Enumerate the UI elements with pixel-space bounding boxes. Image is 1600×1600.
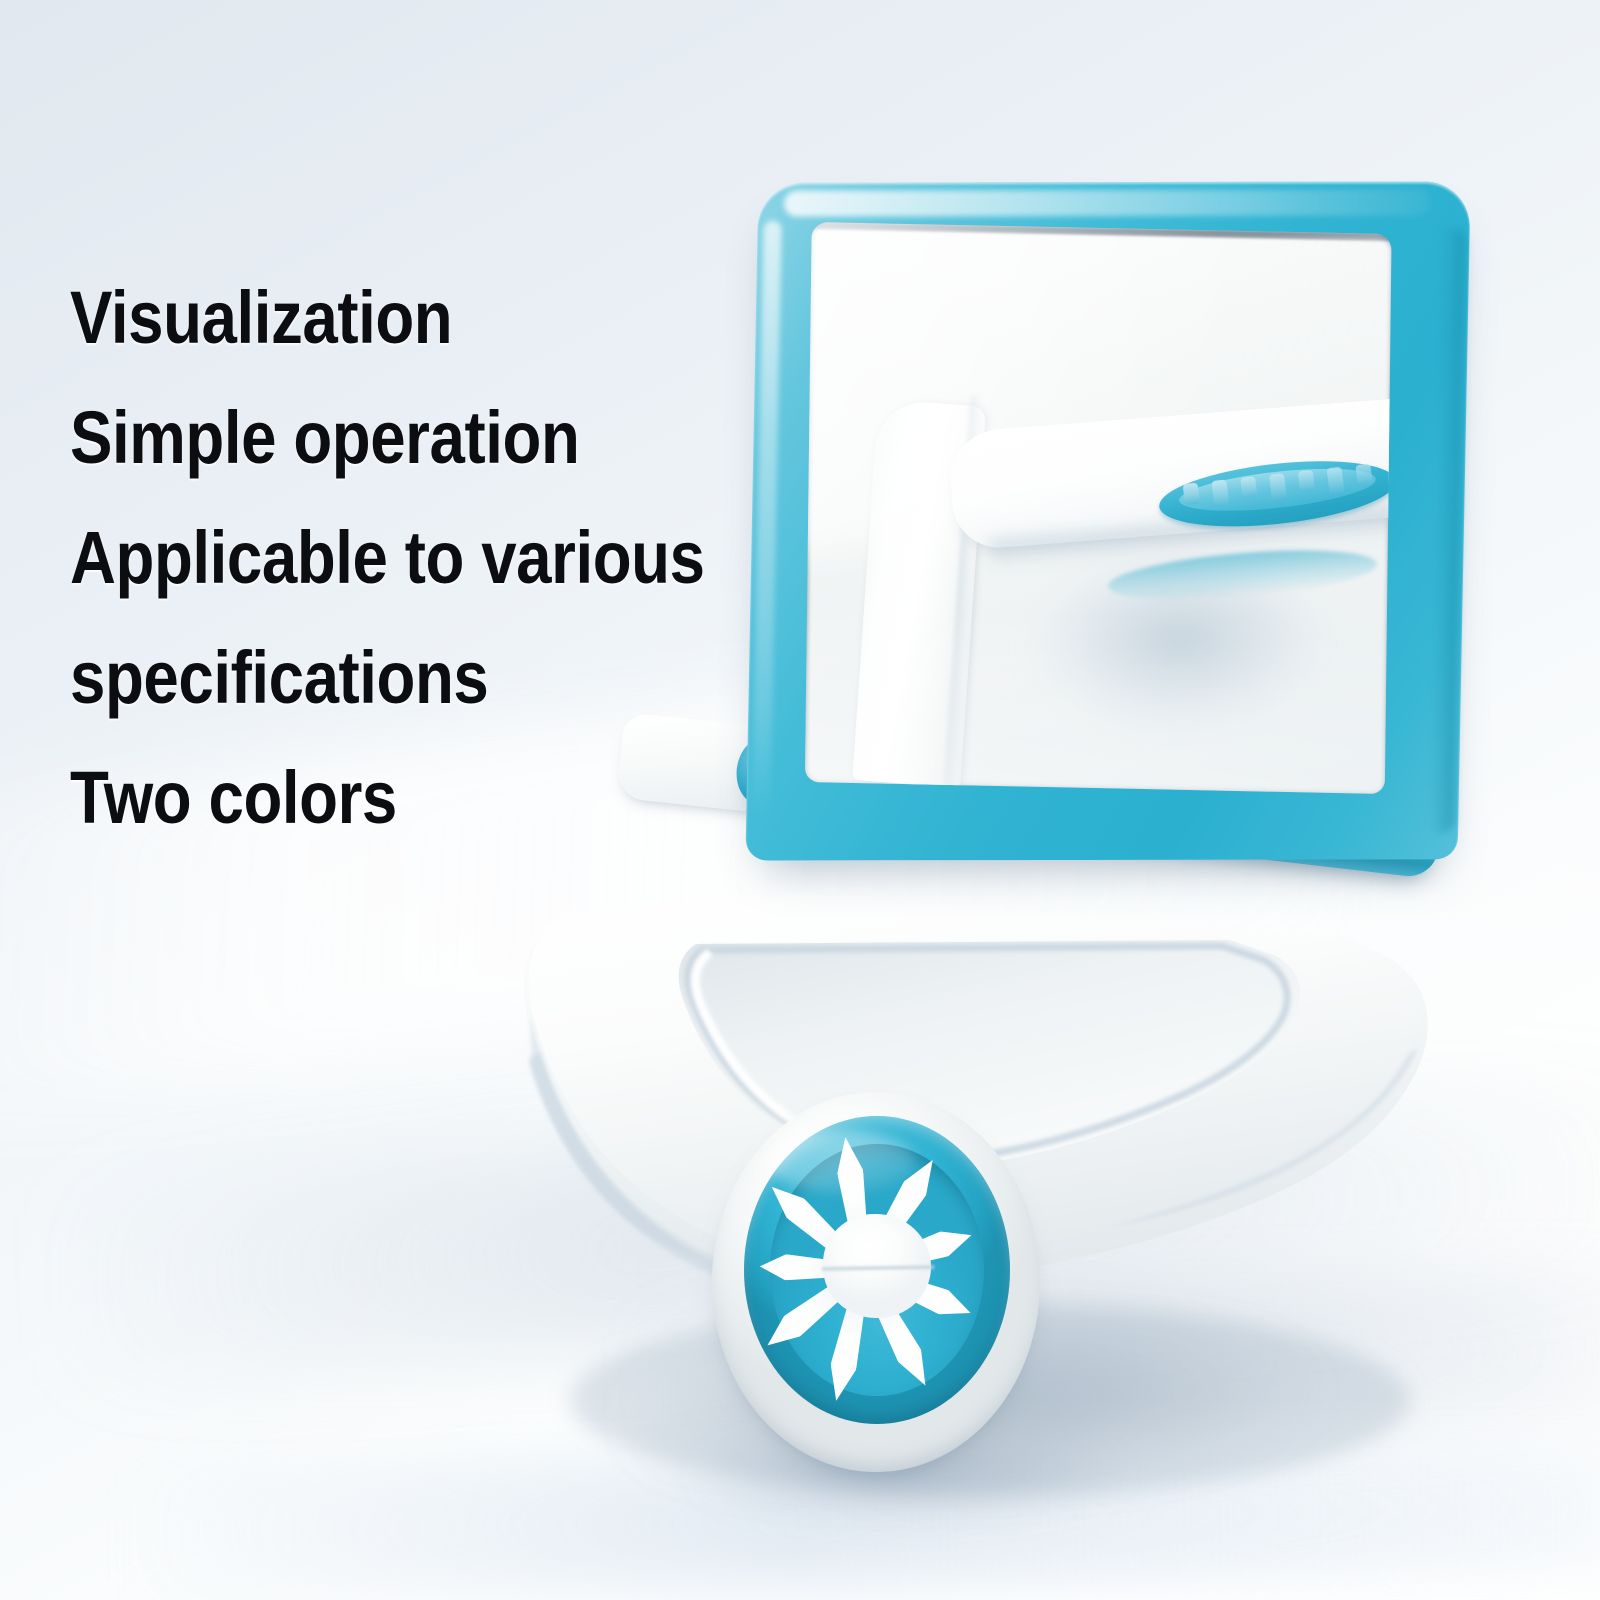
reflection-gripper-tooth [1327, 467, 1345, 494]
feature-line-simple-operation: Simple operation [70, 378, 724, 498]
gripper-teeth-star [770, 1142, 984, 1398]
pane-glare-lower [805, 631, 1392, 794]
product-contact-shadow [600, 1415, 1220, 1535]
reflection-arm-edge [944, 395, 983, 787]
gripper-assembly [700, 1078, 1052, 1496]
hinge-tube [739, 739, 1441, 879]
mirror-panel [745, 181, 1470, 860]
product-feature-banner: Visualization Simple operation Applicabl… [0, 0, 1600, 1600]
hinge-tube-group [737, 725, 1455, 902]
gripper-tooth [863, 1153, 944, 1262]
gripper-drop-shadow [710, 1108, 1042, 1490]
feature-list: Visualization Simple operation Applicabl… [70, 258, 830, 858]
gripper-tooth [876, 1265, 976, 1325]
reflection-bar-shading [989, 506, 1391, 572]
reflection-base-arm [852, 399, 986, 788]
reflection-ring-base [1106, 542, 1379, 608]
base-silhouette [470, 840, 1480, 1520]
gripper-tooth [763, 1177, 859, 1267]
hinge-highlight [774, 749, 1407, 836]
reflection-gripper-tooth [1298, 470, 1315, 493]
product-base-tray [470, 840, 1480, 1520]
gripper-teeth-hub [823, 1214, 931, 1318]
backdrop-sweep-lower [617, 1266, 1600, 1465]
reflection-gripper-tooth [1240, 476, 1257, 499]
frame-right-shading [1428, 227, 1466, 833]
reflection-gripper-ring [1156, 451, 1392, 537]
gripper-blue-ring [744, 1116, 1010, 1424]
reflection-gripper-ring-inner [1177, 461, 1378, 519]
frame-top-highlight [784, 190, 1431, 217]
feature-line-applicable-specifications: Applicable to various specifications [70, 498, 724, 738]
gripper-tooth [877, 1223, 975, 1277]
gripper-tooth [759, 1253, 846, 1282]
panel-blue-frame [745, 181, 1470, 860]
reflection-gripper-tooth [1355, 463, 1372, 486]
mirror-pane [805, 222, 1392, 794]
pane-glare-upper [805, 222, 1392, 560]
feature-line-visualization: Visualization [70, 258, 724, 378]
reflection-gripper-tooth [1269, 473, 1287, 500]
gripper-ring-bowl [770, 1144, 984, 1396]
backdrop-sweep-mid [35, 1072, 1600, 1387]
gripper-tooth [759, 1271, 857, 1356]
reflection-gripper-tooth [1183, 483, 1200, 506]
gripper-tooth [823, 1285, 872, 1404]
reflection-gripper-teeth [1155, 447, 1391, 543]
product-ground-shadow [515, 1277, 1425, 1534]
reflection-soft-shadow [1001, 539, 1375, 770]
gripper-white-boss [712, 1092, 1040, 1472]
gripper-teeth-seam [822, 1265, 934, 1271]
backdrop-sweep-floor [119, 1442, 1600, 1598]
pane-top-seam [812, 222, 1392, 241]
reflection-gripper-tooth [1211, 479, 1229, 506]
feature-line-two-colors: Two colors [70, 738, 724, 858]
reflection-base-bar [946, 398, 1391, 550]
gripper-tooth [861, 1280, 937, 1392]
gripper-tooth [832, 1135, 874, 1254]
gripper-ring-highlight [766, 1130, 916, 1192]
